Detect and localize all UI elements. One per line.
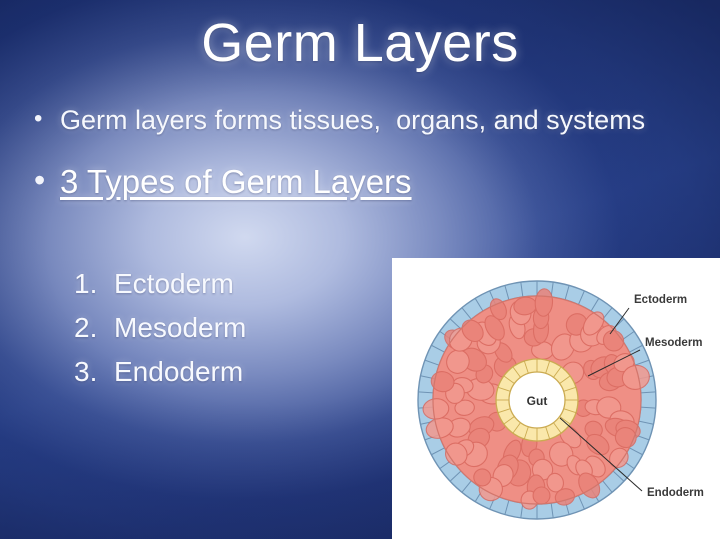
mesoderm-label: Mesoderm — [645, 337, 703, 349]
list-item-label: Endoderm — [114, 356, 243, 388]
bullet-dot-icon: • — [34, 162, 60, 196]
bullet-text-2: 3 Types of Germ Layers — [60, 162, 412, 202]
bullet-item-1: • Germ layers forms tissues, organs, and… — [34, 103, 664, 138]
bullet-item-2: • 3 Types of Germ Layers — [34, 162, 664, 202]
slide-body: • Germ layers forms tissues, organs, and… — [34, 103, 664, 201]
slide-canvas: Germ Layers • Germ layers forms tissues,… — [0, 0, 720, 539]
list-item: 2. Mesoderm — [74, 312, 394, 344]
list-item: 1. Ectoderm — [74, 268, 394, 300]
list-item: 3. Endoderm — [74, 356, 394, 388]
list-item-marker: 1. — [74, 268, 114, 300]
bullet-dot-icon: • — [34, 103, 60, 131]
list-item-label: Mesoderm — [114, 312, 246, 344]
list-item-label: Ectoderm — [114, 268, 234, 300]
bullet-text-1: Germ layers forms tissues, organs, and s… — [60, 103, 645, 138]
germ-layers-diagram-image: Gut Ectoderm Mesoderm Endoderm — [392, 258, 720, 539]
list-item-marker: 2. — [74, 312, 114, 344]
list-item-marker: 3. — [74, 356, 114, 388]
germ-layers-diagram-svg: Gut Ectoderm Mesoderm Endoderm — [392, 258, 720, 539]
slide-title: Germ Layers — [0, 14, 720, 72]
endoderm-label: Endoderm — [647, 487, 704, 499]
numbered-list: 1. Ectoderm 2. Mesoderm 3. Endoderm — [74, 268, 394, 400]
gut-label: Gut — [527, 394, 548, 408]
ectoderm-label: Ectoderm — [634, 294, 687, 306]
